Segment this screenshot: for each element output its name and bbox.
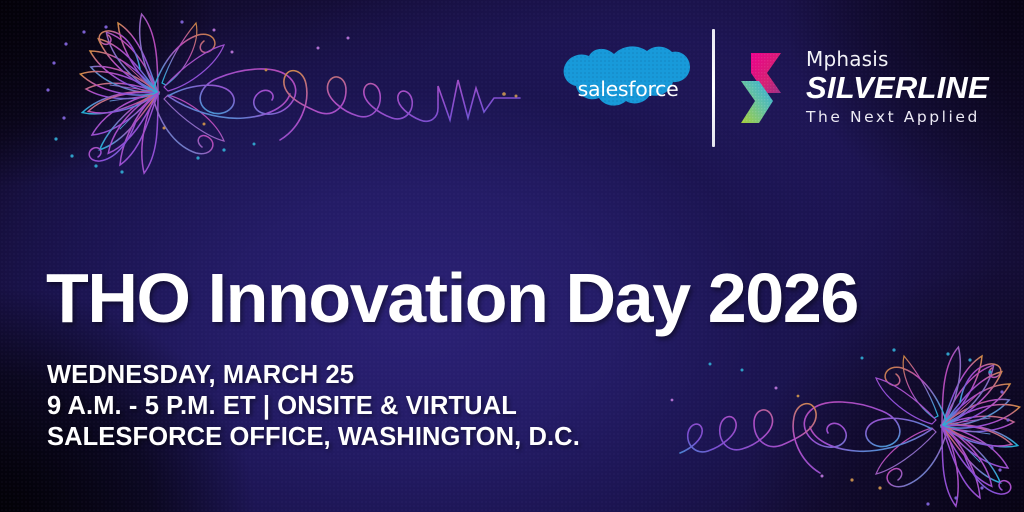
mphasis-text-block: Mphasis SILVERLINE The Next Applied xyxy=(806,49,989,127)
page-title: THO Innovation Day 2026 xyxy=(46,263,858,333)
event-banner: salesforce xyxy=(0,0,1024,512)
event-date: WEDNESDAY, MARCH 25 xyxy=(47,360,580,391)
logo-divider xyxy=(712,29,715,147)
salesforce-wordmark: salesforce xyxy=(578,77,679,101)
event-details: WEDNESDAY, MARCH 25 9 A.M. - 5 P.M. ET |… xyxy=(47,360,580,453)
event-time-format: 9 A.M. - 5 P.M. ET | ONSITE & VIRTUAL xyxy=(47,391,580,422)
logo-bar: salesforce xyxy=(560,26,1000,150)
mphasis-silverline-logo: Mphasis SILVERLINE The Next Applied xyxy=(737,49,989,127)
silverline-brand-name: SILVERLINE xyxy=(806,72,989,105)
event-location: SALESFORCE OFFICE, WASHINGTON, D.C. xyxy=(47,422,580,453)
mphasis-company-name: Mphasis xyxy=(806,49,989,71)
salesforce-logo: salesforce xyxy=(560,40,696,136)
silverline-tagline: The Next Applied xyxy=(806,108,989,127)
mphasis-chevron-icon xyxy=(737,51,793,125)
